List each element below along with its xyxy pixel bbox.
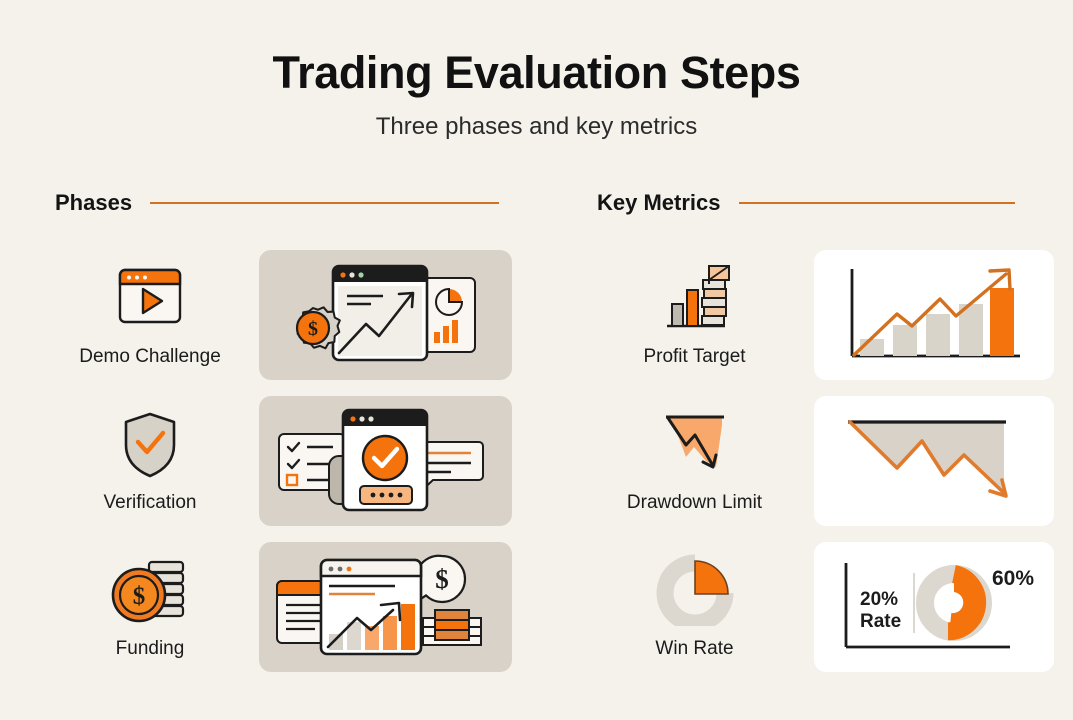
key-metrics-section-title: Key Metrics xyxy=(597,190,721,216)
phase-row-verification[interactable]: Verification xyxy=(55,388,556,534)
document-growth-chart-money-illustration: $ xyxy=(271,548,501,666)
rising-bar-chart-arrow-card xyxy=(834,263,1034,367)
declining-line-area-card xyxy=(834,409,1034,513)
phase-row-funding[interactable]: $ Funding xyxy=(55,534,556,680)
metric-label-win-rate: Win Rate xyxy=(655,638,733,660)
metric-row-win-rate[interactable]: Win Rate 20% Rate 60% xyxy=(597,534,1073,680)
donut-quarter-icon xyxy=(656,554,734,626)
metric-card-profit-target xyxy=(814,250,1054,380)
phases-section-header: Phases xyxy=(55,186,556,220)
donut-rate-card: 20% Rate 60% xyxy=(830,555,1038,659)
page-subtitle: Three phases and key metrics xyxy=(0,114,1073,140)
header: Trading Evaluation Steps Three phases an… xyxy=(0,0,1073,140)
key-metrics-rows: Profit Target xyxy=(597,242,1073,680)
phases-rows: Demo Challenge xyxy=(55,242,556,680)
win-rate-left-label: Rate xyxy=(860,611,901,632)
browser-play-icon xyxy=(110,262,190,334)
metric-label-cell-profit-target: Profit Target xyxy=(597,262,792,368)
svg-text:$: $ xyxy=(133,583,146,610)
phases-section-title: Phases xyxy=(55,190,132,216)
coin-stack-icon: $ xyxy=(109,554,191,626)
phases-column: Phases xyxy=(0,186,556,680)
metric-label-cell-win-rate: Win Rate xyxy=(597,554,792,660)
phase-label-cell-demo-challenge: Demo Challenge xyxy=(55,262,245,368)
phase-row-demo-challenge[interactable]: Demo Challenge xyxy=(55,242,556,388)
metric-label-drawdown-limit: Drawdown Limit xyxy=(627,492,762,514)
bar-chart-flag-icon xyxy=(653,262,737,334)
down-arrow-zigzag-icon xyxy=(650,408,740,480)
metric-row-drawdown-limit[interactable]: Drawdown Limit xyxy=(597,388,1073,534)
gear-dollar-browser-chart-illustration: $ xyxy=(271,256,501,374)
shield-check-icon xyxy=(115,408,185,480)
infographic-page: Trading Evaluation Steps Three phases an… xyxy=(0,0,1073,720)
phase-panel-demo-challenge: $ xyxy=(259,250,512,380)
svg-text:$: $ xyxy=(435,564,449,594)
metric-row-profit-target[interactable]: Profit Target xyxy=(597,242,1073,388)
page-title: Trading Evaluation Steps xyxy=(0,48,1073,98)
key-metrics-column: Key Metrics xyxy=(556,186,1073,680)
phase-label-cell-funding: $ Funding xyxy=(55,554,245,660)
key-metrics-section-header: Key Metrics xyxy=(597,186,1073,220)
checklist-approval-chat-illustration xyxy=(271,402,501,520)
phase-label-demo-challenge: Demo Challenge xyxy=(79,346,221,368)
phase-label-cell-verification: Verification xyxy=(55,408,245,514)
phases-section-rule xyxy=(150,202,499,204)
win-rate-left-value: 20% xyxy=(860,589,898,610)
metric-card-win-rate: 20% Rate 60% xyxy=(814,542,1054,672)
content-columns: Phases xyxy=(0,186,1073,680)
metric-label-profit-target: Profit Target xyxy=(643,346,745,368)
win-rate-right-value: 60% xyxy=(992,567,1034,590)
phase-label-funding: Funding xyxy=(116,638,185,660)
metric-card-drawdown-limit xyxy=(814,396,1054,526)
phase-panel-funding: $ xyxy=(259,542,512,672)
phase-panel-verification xyxy=(259,396,512,526)
svg-text:$: $ xyxy=(308,318,318,340)
metric-label-cell-drawdown-limit: Drawdown Limit xyxy=(597,408,792,514)
phase-label-verification: Verification xyxy=(104,492,197,514)
key-metrics-section-rule xyxy=(739,202,1015,204)
